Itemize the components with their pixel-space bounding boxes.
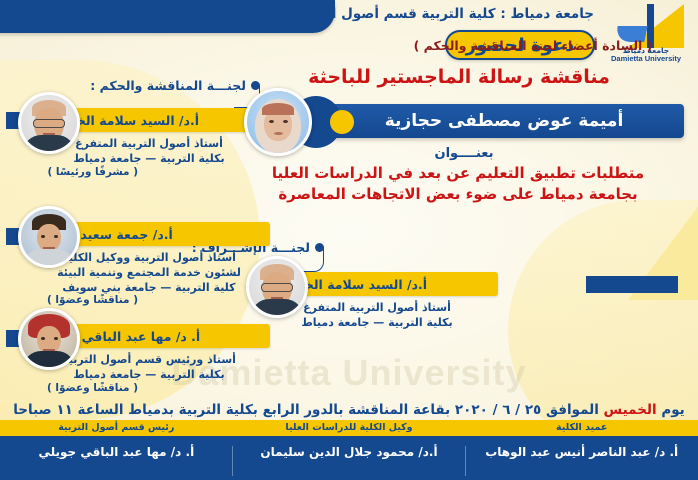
examiner-desc-2-line-3: كلية التربية — جامعة بني سويف [24,280,274,295]
supervisor-desc-1-line-2: بكلية التربية — جامعة دمياط [252,315,502,330]
avatar-eye-left [269,120,274,123]
signature-name-dept-head: أ. د/ مها عبد الباقي جويلي [0,445,233,459]
examiner-desc-2-line-2: لشئون خدمة المجتمع وتنمية البيئة [24,265,274,280]
avatar-eye-left [41,235,45,238]
avatar-body-shape [23,351,75,369]
signature-name-dean: أ. د/ عبد الناصر أنيس عبد الوهاب [465,445,698,459]
avatar-eye-right [54,235,58,238]
thesis-title-line-2: بجامعة دمياط على ضوء بعض الاتجاهات المعا… [228,184,688,205]
examiner-desc-3-line-2: بكلية التربية — جامعة دمياط [24,367,274,382]
signature-title-vice-dean: وكيل الكلية للدراسات العليا [233,420,466,436]
avatar-mouth-shape [274,132,283,135]
examiner-desc-1-line-2: بكلية التربية — جامعة دمياط [24,151,274,166]
researcher-name: أميمة عوض مصطفى حجازية [325,111,624,131]
event-day-name: الخميس [604,402,657,418]
examination-heading: لجنـــة المناقشة والحكم : [90,78,246,93]
signature-names-bar: أ. د/ عبد الناصر أنيس عبد الوهاب أ.د/ مح… [0,436,698,480]
examiner-avatar-3 [18,308,80,370]
supervision-blue-stub [586,276,678,293]
avatar-eye-right [283,120,288,123]
avatar-eye-left [41,337,45,340]
thesis-title-line-1: متطلبات تطبيق التعليم عن بعد في الدراسات… [228,163,688,184]
examiner-avatar-1 [18,92,80,154]
avatar-body-shape [251,299,303,317]
signature-divider-2 [465,446,466,476]
avatar-body-shape [23,249,75,267]
examiner-role-3: ( مناقشًا وعضوًا ) [47,382,138,394]
poster-root: Damietta University جامعة دمياط : كلية ا… [0,0,698,480]
avatar-eye-right [54,337,58,340]
signature-titles-bar: عميد الكلية وكيل الكلية للدراسات العليا … [0,420,698,436]
avatar-glasses-icon [33,119,65,128]
damietta-university-logo-icon: جامعة دمياط Damietta University [602,2,690,64]
signature-name-vice-dean: أ.د/ محمود جلال الدين سليمان [233,445,466,459]
examination-subtitle: ( السادة أعضاء لجنة المناقشة والحكم ) [368,38,698,53]
signature-title-dept-head: رئيس قسم أصول التربية [0,420,233,436]
avatar-body-shape [23,135,75,153]
examiner-avatar-2 [18,206,80,268]
title-label: بعنــــوان [244,146,684,161]
logo-name-english: Damietta University [602,54,690,63]
thesis-title: متطلبات تطبيق التعليم عن بعد في الدراسات… [228,163,688,205]
examiner-role-1: ( مشرفًا ورئيسًا ) [47,166,138,178]
examiner-role-2: ( مناقشًا وعضوًا ) [47,294,138,306]
avatar-glasses-icon [261,283,293,292]
signature-divider-1 [232,446,233,476]
signature-title-dean: عميد الكلية [465,420,698,436]
event-date-line: يوم الخميس الموافق ٢٥ / ٦ / ٢٠٢٠ بقاعة ا… [0,402,698,418]
researcher-avatar [244,88,312,156]
supervisor-avatar-1 [246,256,308,318]
decorative-yellow-circle [330,110,354,134]
thesis-kind-heading: مناقشة رسالة الماجستير للباحثة [234,66,684,88]
event-date-prefix: يوم [661,402,684,418]
event-date-details: الموافق ٢٥ / ٦ / ٢٠٢٠ بقاعة المناقشة بال… [13,402,599,418]
avatar-hairline-shape [262,103,294,115]
